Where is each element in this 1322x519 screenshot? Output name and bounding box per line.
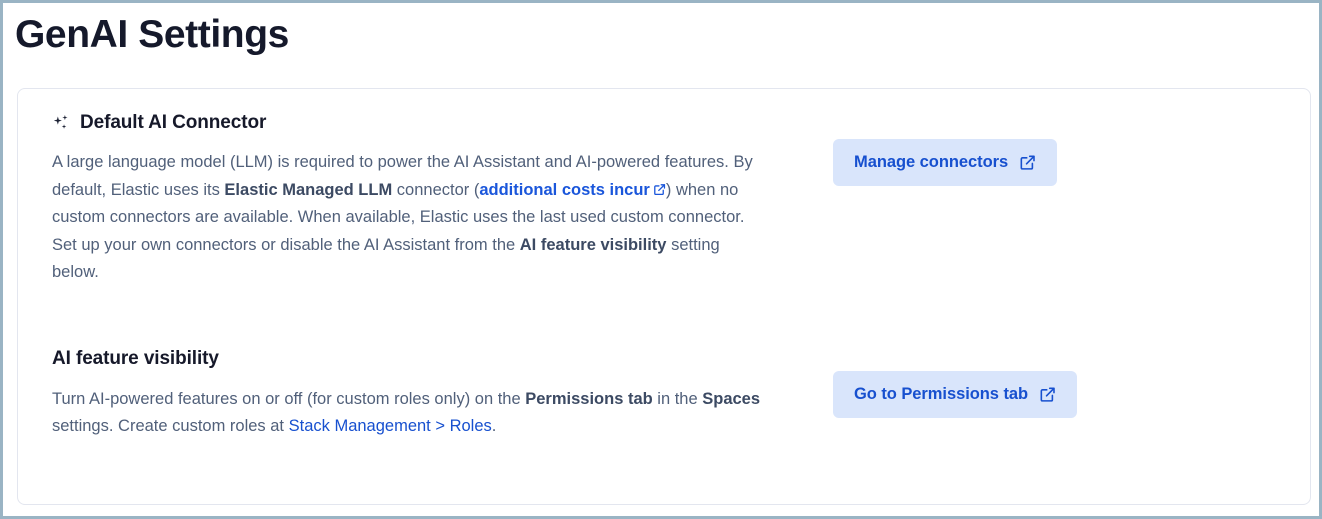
description-part-2: in the [653, 390, 703, 408]
default-ai-connector-description: A large language model (LLM) is required… [52, 149, 764, 287]
manage-connectors-button-label: Manage connectors [854, 153, 1008, 172]
ai-feature-visibility-heading: AI feature visibility [52, 347, 798, 371]
go-to-permissions-tab-button[interactable]: Go to Permissions tab [833, 371, 1077, 418]
section-content: Default AI Connector A large language mo… [38, 111, 798, 287]
page-title: GenAI Settings [3, 3, 1319, 58]
go-to-permissions-tab-button-label: Go to Permissions tab [854, 385, 1028, 404]
description-part-3: settings. Create custom roles at [52, 417, 289, 435]
stack-management-roles-link[interactable]: Stack Management > Roles [289, 417, 492, 435]
section-actions: Go to Permissions tab [798, 347, 1310, 418]
external-link-icon [653, 183, 666, 196]
sparkles-icon [52, 114, 71, 133]
description-part-2: connector ( [392, 181, 479, 199]
external-link-icon [1039, 386, 1056, 403]
additional-costs-incur-link[interactable]: additional costs incur [479, 181, 666, 199]
additional-costs-incur-link-label: additional costs incur [479, 181, 650, 199]
section-content: AI feature visibility Turn AI-powered fe… [38, 347, 798, 441]
section-actions: Manage connectors [798, 111, 1310, 186]
default-ai-connector-heading: Default AI Connector [52, 111, 798, 135]
section-ai-feature-visibility: AI feature visibility Turn AI-powered fe… [18, 287, 1310, 441]
external-link-icon [1019, 154, 1036, 171]
description-part-4: . [492, 417, 497, 435]
section-heading-label: AI feature visibility [52, 347, 219, 371]
description-bold-ai-feature-visibility: AI feature visibility [520, 236, 667, 254]
description-bold-elastic-managed-llm: Elastic Managed LLM [224, 181, 392, 199]
section-heading-label: Default AI Connector [80, 111, 266, 135]
description-bold-spaces: Spaces [702, 390, 760, 408]
app-window: GenAI Settings Default AI Connector A la… [0, 0, 1322, 519]
description-part-1: Turn AI-powered features on or off (for … [52, 390, 525, 408]
ai-feature-visibility-description: Turn AI-powered features on or off (for … [52, 386, 774, 441]
manage-connectors-button[interactable]: Manage connectors [833, 139, 1057, 186]
section-default-ai-connector: Default AI Connector A large language mo… [18, 89, 1310, 287]
settings-panel: Default AI Connector A large language mo… [17, 88, 1311, 505]
description-bold-permissions-tab: Permissions tab [525, 390, 652, 408]
